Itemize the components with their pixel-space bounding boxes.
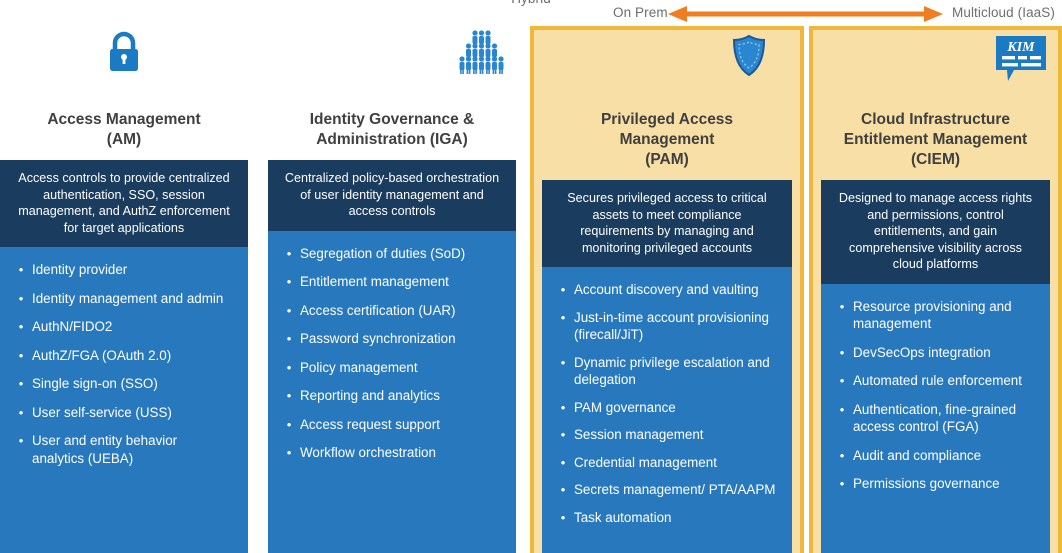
list-item-label: Password synchronization bbox=[300, 330, 500, 348]
column-title-iga: Identity Governance & Administration (IG… bbox=[302, 110, 483, 150]
bullet-list-iga: •Segregation of duties (SoD) •Entitlemen… bbox=[268, 231, 516, 553]
icon-container-am bbox=[0, 26, 248, 88]
icon-container-pam bbox=[534, 30, 800, 92]
list-item: •Password synchronization bbox=[278, 330, 506, 348]
column-title-iga-line1: Identity Governance & bbox=[310, 111, 475, 128]
list-item-label: Just-in-time account provisioning (firec… bbox=[574, 309, 776, 344]
list-item: •Identity management and admin bbox=[10, 290, 238, 308]
svg-text:KIM: KIM bbox=[1006, 40, 1035, 55]
description-pam: Secures privileged access to critical as… bbox=[542, 180, 792, 267]
column-title-ciem-line2: Entitlement Management bbox=[844, 131, 1027, 148]
bullet-dot: • bbox=[831, 447, 853, 465]
list-item-label: Automated rule enforcement bbox=[853, 372, 1034, 390]
list-item: •Credential management bbox=[552, 454, 782, 472]
list-item: •Secrets management/ PTA/AAPM bbox=[552, 481, 782, 499]
column-title-iga-line2: Administration (IGA) bbox=[316, 131, 468, 148]
list-item: •Single sign-on (SSO) bbox=[10, 375, 238, 393]
list-item-label: User and entity behavior analytics (UEBA… bbox=[32, 432, 232, 467]
list-item-label: Identity provider bbox=[32, 261, 232, 279]
list-item: •Task automation bbox=[552, 509, 782, 527]
list-item: •Access request support bbox=[278, 416, 506, 434]
list-item: •Dynamic privilege escalation and delega… bbox=[552, 354, 782, 389]
bullet-dot: • bbox=[278, 330, 300, 348]
list-item-label: Resource provisioning and management bbox=[853, 298, 1034, 333]
list-item: •DevSecOps integration bbox=[831, 344, 1040, 362]
bullet-dot: • bbox=[10, 404, 32, 422]
people-pyramid-icon bbox=[454, 30, 508, 79]
list-item: •PAM governance bbox=[552, 399, 782, 417]
list-item: •Policy management bbox=[278, 359, 506, 377]
list-item-label: Workflow orchestration bbox=[300, 444, 500, 462]
multicloud-label: Multicloud (IaaS) bbox=[952, 5, 1055, 20]
list-item: •Automated rule enforcement bbox=[831, 372, 1040, 390]
column-cloud-infrastructure-entitlement-management: KIM Cloud Infrastructure Entitlement Man… bbox=[809, 26, 1062, 553]
list-item-label: Audit and compliance bbox=[853, 447, 1034, 465]
list-item-label: Account discovery and vaulting bbox=[574, 281, 776, 299]
list-item-label: Session management bbox=[574, 426, 776, 444]
list-item-label: Policy management bbox=[300, 359, 500, 377]
bullet-dot: • bbox=[10, 347, 32, 365]
bullet-dot: • bbox=[552, 354, 574, 389]
icon-container-ciem: KIM bbox=[813, 30, 1058, 92]
kim-speech-bubble-icon: KIM bbox=[994, 34, 1048, 89]
list-item: •Access certification (UAR) bbox=[278, 302, 506, 320]
list-item: •Resource provisioning and management bbox=[831, 298, 1040, 333]
list-item: •Audit and compliance bbox=[831, 447, 1040, 465]
list-item-label: Single sign-on (SSO) bbox=[32, 375, 232, 393]
bullet-dot: • bbox=[10, 290, 32, 308]
bullet-dot: • bbox=[552, 454, 574, 472]
bullet-dot: • bbox=[278, 444, 300, 462]
bullet-list-pam: •Account discovery and vaulting •Just-in… bbox=[542, 267, 792, 553]
bullet-dot: • bbox=[278, 245, 300, 263]
list-item-label: Dynamic privilege escalation and delegat… bbox=[574, 354, 776, 389]
description-ciem: Designed to manage access rights and per… bbox=[821, 180, 1050, 284]
list-item-label: AuthZ/FGA (OAuth 2.0) bbox=[32, 347, 232, 365]
title-block-pam: Privileged Access Management (PAM) bbox=[534, 92, 800, 170]
column-identity-governance-administration: Identity Governance & Administration (IG… bbox=[268, 26, 516, 553]
list-item: •Permissions governance bbox=[831, 475, 1040, 493]
bullet-dot: • bbox=[278, 302, 300, 320]
bullet-dot: • bbox=[10, 318, 32, 336]
bullet-dot: • bbox=[278, 416, 300, 434]
bullet-dot: • bbox=[552, 309, 574, 344]
bullet-dot: • bbox=[552, 426, 574, 444]
title-block-ciem: Cloud Infrastructure Entitlement Managem… bbox=[813, 92, 1058, 170]
list-item-label: User self-service (USS) bbox=[32, 404, 232, 422]
list-item-label: Identity management and admin bbox=[32, 290, 232, 308]
capability-columns: Access Management (AM) Access controls t… bbox=[0, 26, 1062, 553]
bullet-dot: • bbox=[552, 481, 574, 499]
shield-icon bbox=[732, 34, 766, 83]
list-item: •AuthZ/FGA (OAuth 2.0) bbox=[10, 347, 238, 365]
list-item: •Just-in-time account provisioning (fire… bbox=[552, 309, 782, 344]
list-item: •Account discovery and vaulting bbox=[552, 281, 782, 299]
list-item: •Entitlement management bbox=[278, 273, 506, 291]
column-title-ciem: Cloud Infrastructure Entitlement Managem… bbox=[836, 110, 1035, 170]
list-item-label: DevSecOps integration bbox=[853, 344, 1034, 362]
list-item: •Authentication, fine-grained access con… bbox=[831, 401, 1040, 436]
column-title-ciem-line1: Cloud Infrastructure bbox=[861, 111, 1010, 128]
list-item-label: Credential management bbox=[574, 454, 776, 472]
bullet-dot: • bbox=[552, 399, 574, 417]
bullet-dot: • bbox=[10, 261, 32, 279]
description-iga: Centralized policy-based orchestration o… bbox=[268, 160, 516, 231]
bullet-dot: • bbox=[10, 432, 32, 467]
list-item-label: Reporting and analytics bbox=[300, 387, 500, 405]
icon-container-iga bbox=[268, 26, 516, 88]
list-item-label: Access request support bbox=[300, 416, 500, 434]
bullet-dot: • bbox=[278, 273, 300, 291]
list-item-label: PAM governance bbox=[574, 399, 776, 417]
title-block-am: Access Management (AM) bbox=[0, 88, 248, 150]
bullet-dot: • bbox=[552, 281, 574, 299]
bullet-list-ciem: •Resource provisioning and management •D… bbox=[821, 284, 1050, 553]
bullet-dot: • bbox=[278, 387, 300, 405]
padlock-icon bbox=[105, 30, 143, 79]
bullet-dot: • bbox=[831, 344, 853, 362]
bullet-dot: • bbox=[831, 372, 853, 390]
list-item-label: Entitlement management bbox=[300, 273, 500, 291]
column-title-am: Access Management (AM) bbox=[39, 110, 208, 150]
column-title-am-line1: Access Management bbox=[47, 111, 200, 128]
bullet-dot: • bbox=[10, 375, 32, 393]
column-privileged-access-management: Privileged Access Management (PAM) Secur… bbox=[530, 26, 804, 553]
list-item-label: Permissions governance bbox=[853, 475, 1034, 493]
list-item-label: AuthN/FIDO2 bbox=[32, 318, 232, 336]
bullet-list-am: •Identity provider •Identity management … bbox=[0, 247, 248, 553]
column-access-management: Access Management (AM) Access controls t… bbox=[0, 26, 248, 553]
description-am: Access controls to provide centralized a… bbox=[0, 160, 248, 247]
column-title-am-line2: (AM) bbox=[107, 131, 141, 148]
list-item-label: Secrets management/ PTA/AAPM bbox=[574, 481, 776, 499]
bullet-dot: • bbox=[552, 509, 574, 527]
list-item-label: Task automation bbox=[574, 509, 776, 527]
list-item: •Workflow orchestration bbox=[278, 444, 506, 462]
list-item: •User self-service (USS) bbox=[10, 404, 238, 422]
list-item: •Session management bbox=[552, 426, 782, 444]
list-item-label: Segregation of duties (SoD) bbox=[300, 245, 500, 263]
on-prem-label: On Prem bbox=[613, 5, 668, 20]
list-item: •Segregation of duties (SoD) bbox=[278, 245, 506, 263]
double-arrow-icon bbox=[668, 6, 943, 22]
bullet-dot: • bbox=[278, 359, 300, 377]
list-item: •Reporting and analytics bbox=[278, 387, 506, 405]
list-item-label: Access certification (UAR) bbox=[300, 302, 500, 320]
column-title-pam-line3: (PAM) bbox=[645, 151, 689, 168]
title-block-iga: Identity Governance & Administration (IG… bbox=[268, 88, 516, 150]
column-title-pam-line1: Privileged Access bbox=[601, 111, 733, 128]
column-title-ciem-line3: (CIEM) bbox=[911, 151, 960, 168]
bullet-dot: • bbox=[831, 401, 853, 436]
list-item: •Identity provider bbox=[10, 261, 238, 279]
bullet-dot: • bbox=[831, 298, 853, 333]
list-item: •User and entity behavior analytics (UEB… bbox=[10, 432, 238, 467]
bullet-dot: • bbox=[831, 475, 853, 493]
deployment-spectrum-bar: Hybrid On Prem Multicloud (IaaS) bbox=[0, 0, 1062, 26]
column-title-pam: Privileged Access Management (PAM) bbox=[593, 110, 741, 170]
list-item-label: Authentication, fine-grained access cont… bbox=[853, 401, 1034, 436]
column-title-pam-line2: Management bbox=[620, 131, 715, 148]
list-item: •AuthN/FIDO2 bbox=[10, 318, 238, 336]
